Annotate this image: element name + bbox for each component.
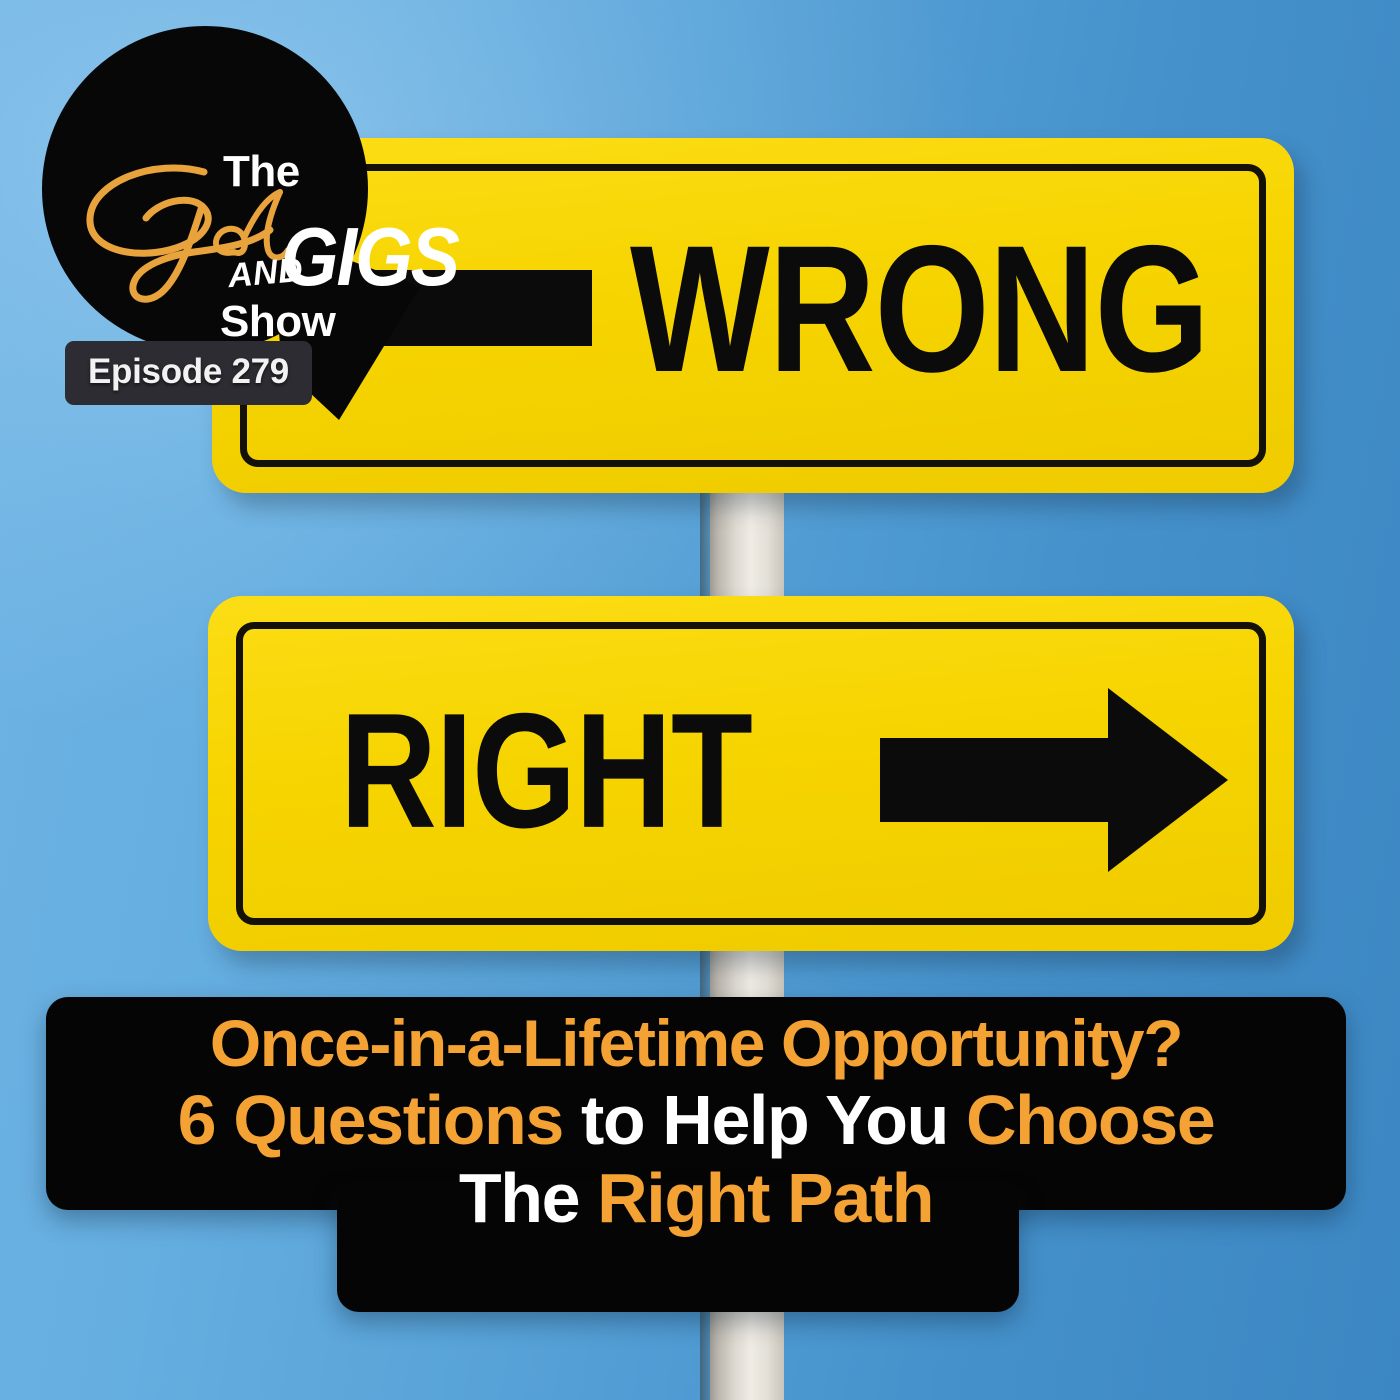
title-line-3: The Right Path [46,1162,1346,1235]
episode-badge: Episode 279 [65,341,312,405]
right-sign-label: RIGHT [340,690,752,853]
title-line-2: 6 Questions to Help You Choose [46,1084,1346,1157]
logo-contents: The AND GIGS Show [42,26,368,352]
wrong-sign-label: WRONG [630,220,1209,401]
right-arrow-icon [880,738,1118,822]
title-line-3-accent: Right Path [597,1159,933,1237]
title-line-1: Once-in-a-Lifetime Opportunity? [46,1009,1346,1078]
podcast-logo-badge: The AND GIGS Show [42,26,368,352]
podcast-cover-art: WRONG RIGHT The AND GIGS Show Episode 27… [0,0,1400,1400]
title-line-3-plain: The [459,1159,597,1237]
right-arrow-head-icon [1108,688,1228,872]
title-line-2-plain: to Help You [563,1081,966,1159]
title-line-1-text: Once-in-a-Lifetime Opportunity? [210,1006,1182,1080]
episode-title: Once-in-a-Lifetime Opportunity? 6 Questi… [46,1009,1346,1235]
title-line-2-accent-b: Choose [966,1081,1214,1159]
title-line-2-accent-a: 6 Questions [178,1081,563,1159]
logo-gigs-text: GIGS [281,209,458,304]
logo-the-text: The [223,147,300,197]
logo-show-text: Show [220,297,335,347]
